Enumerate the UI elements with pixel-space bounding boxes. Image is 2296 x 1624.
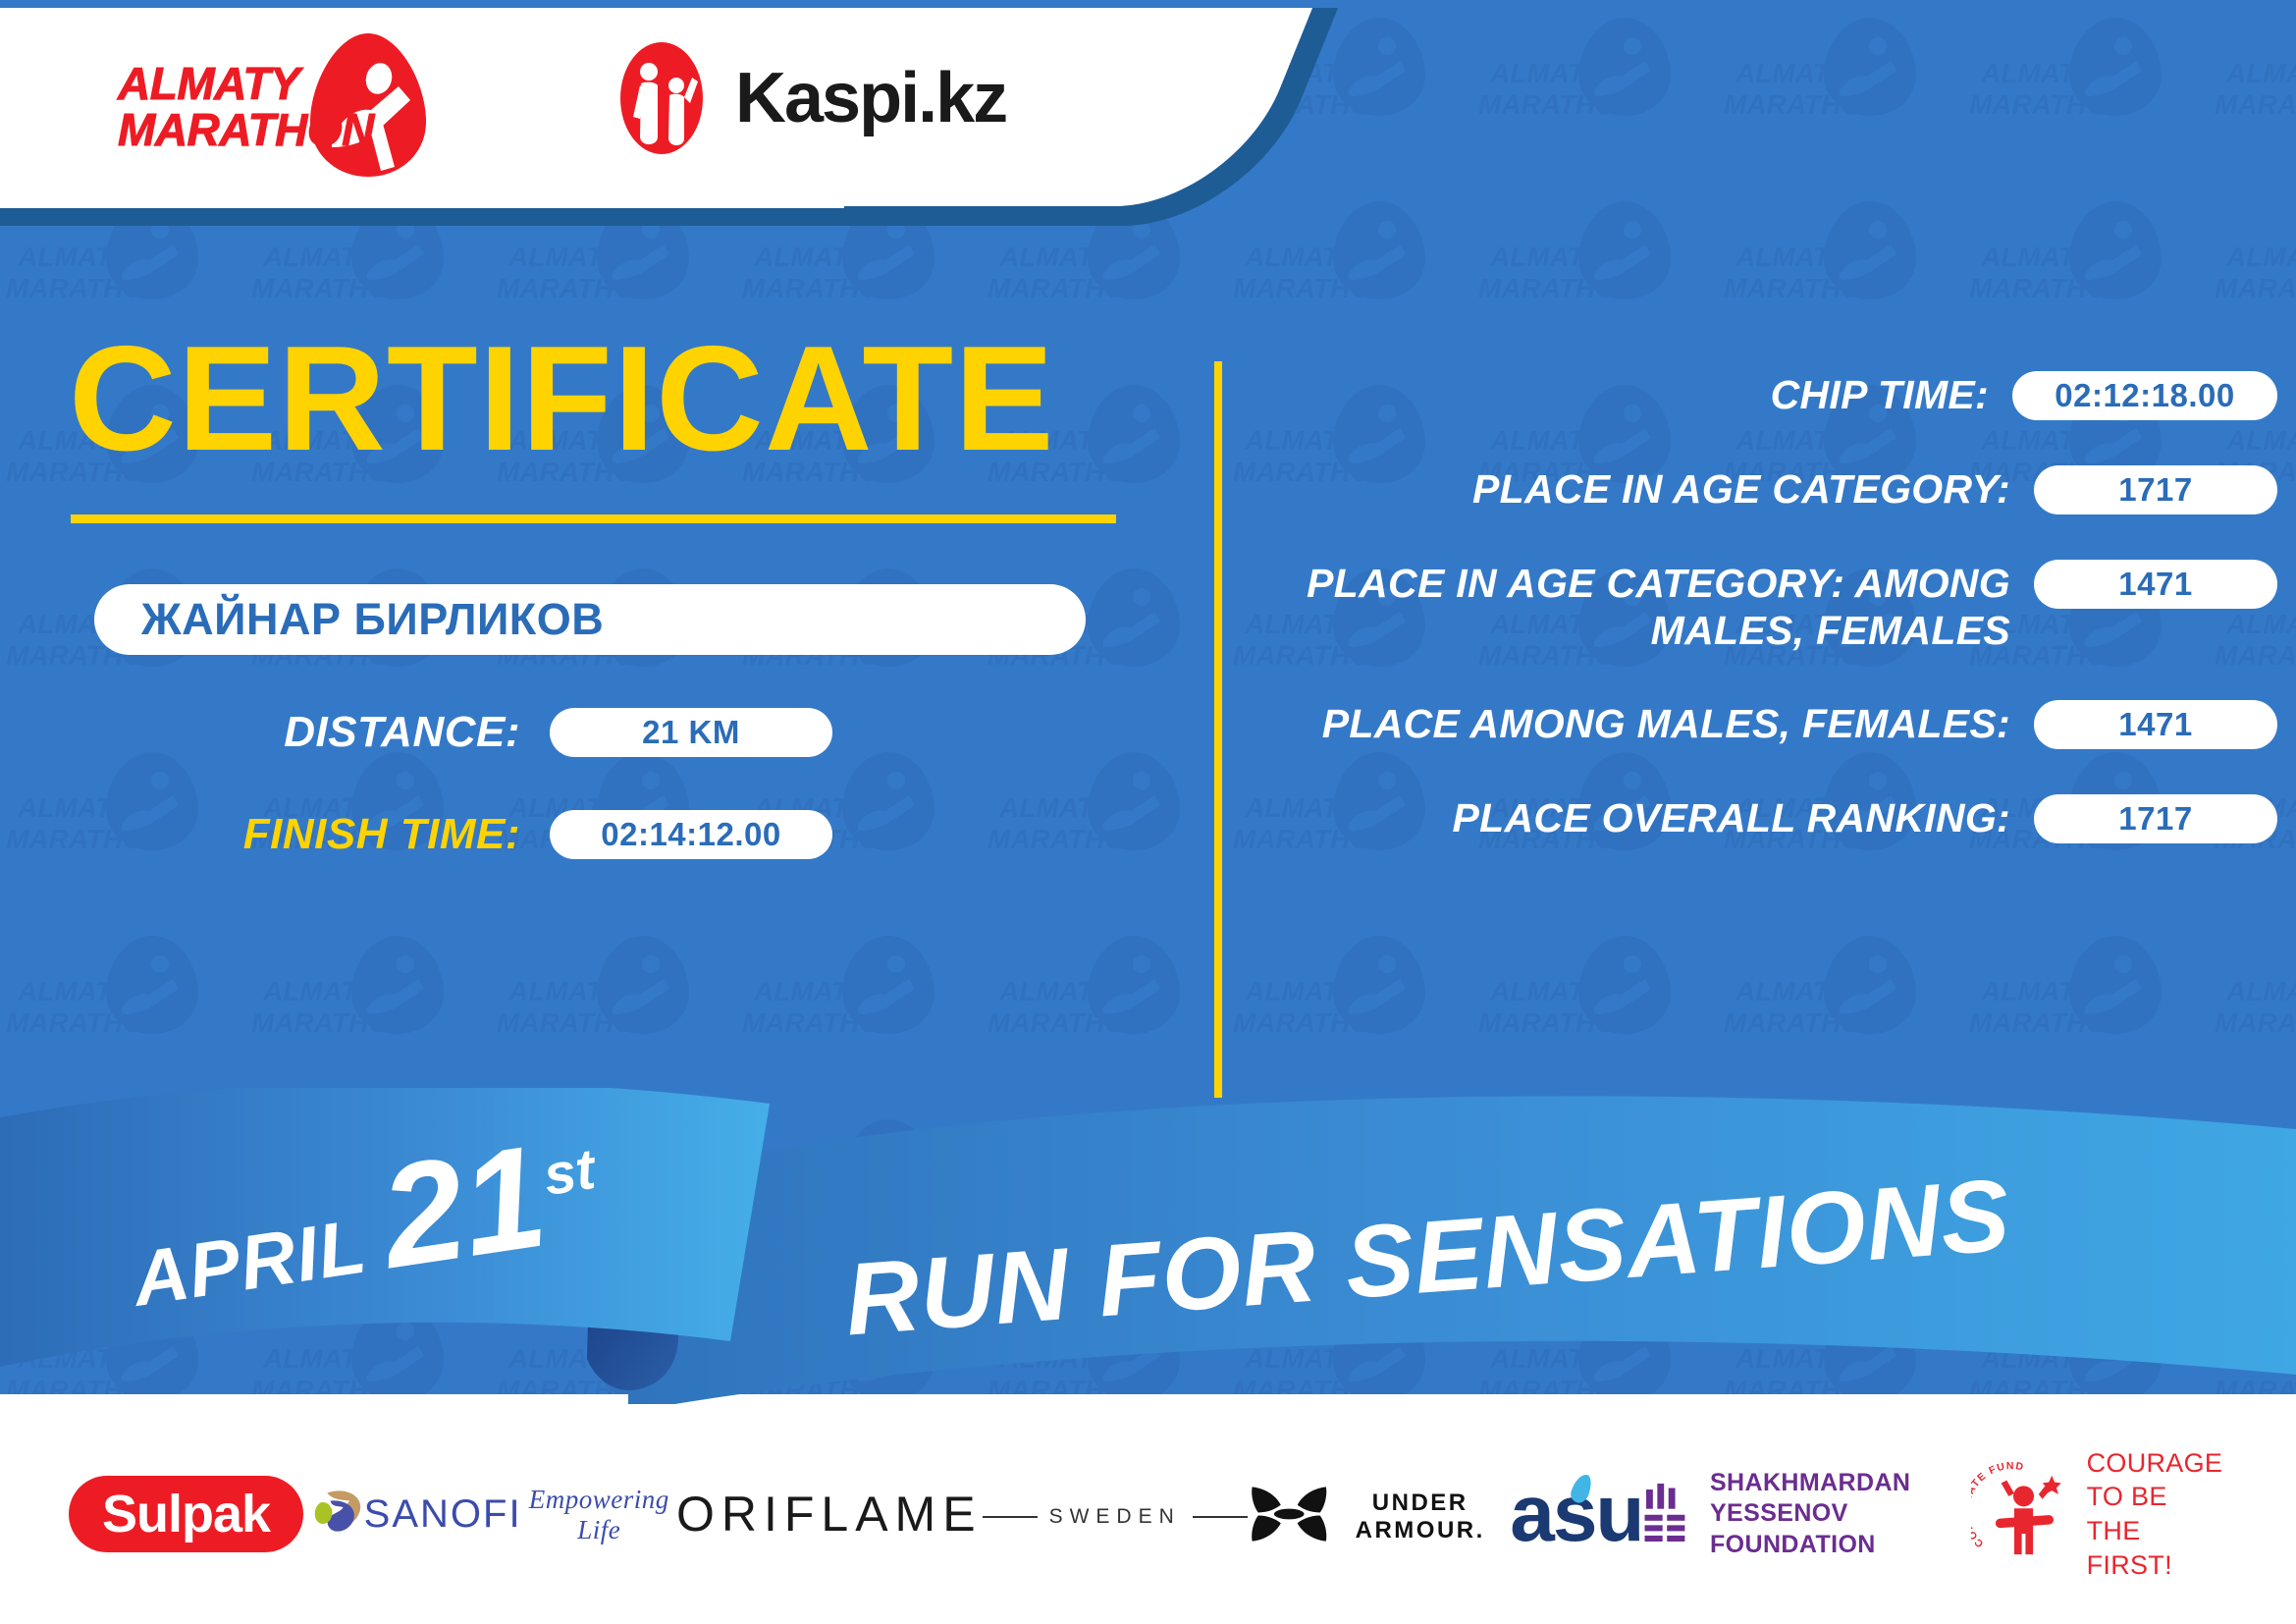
header-logos: ALMATY MARATHON Kaspi.kz: [0, 0, 1099, 196]
yessenov-line2: FOUNDATION: [1710, 1530, 1971, 1560]
sponsor-sulpak: Sulpak: [69, 1476, 303, 1552]
sulpak-wordmark: Sulpak: [69, 1476, 303, 1552]
asu-wordmark: asu: [1510, 1468, 1642, 1560]
yessenov-line1: SHAKHMARDAN YESSENOV: [1710, 1468, 1971, 1530]
place-age-category-label: PLACE IN AGE CATEGORY:: [1266, 465, 2034, 513]
place-among-gender-label: PLACE AMONG MALES, FEMALES:: [1266, 700, 2034, 747]
participant-name-field: ЖАЙНАР БИРЛИКОВ: [94, 584, 1086, 655]
chip-time-value: 02:12:18.00: [2012, 371, 2277, 420]
left-column: CERTIFICATE ЖАЙНАР БИРЛИКОВ DISTANCE: 21…: [0, 324, 1158, 859]
distance-value: 21 KM: [550, 708, 832, 757]
event-day: 21: [374, 1130, 554, 1283]
oriflame-sub: SWEDEN: [983, 1505, 1248, 1529]
place-age-category-gender-value: 1471: [2034, 560, 2277, 609]
place-age-category-gender-label: PLACE IN AGE CATEGORY: AMONG MALES, FEMA…: [1266, 560, 2034, 655]
finish-time-value: 02:14:12.00: [550, 810, 832, 859]
stat-place-age-category-row: PLACE IN AGE CATEGORY: 1717: [1266, 465, 2277, 514]
place-overall-label: PLACE OVERALL RANKING:: [1266, 794, 2034, 841]
participant-name-value: ЖАЙНАР БИРЛИКОВ: [141, 594, 604, 645]
oriflame-wordmark: ORIFLAME: [676, 1486, 983, 1543]
almaty-marathon-logo: ALMATY MARATHON: [118, 29, 442, 167]
under-armour-icon: [1248, 1475, 1330, 1553]
almaty-line2: MARATHON: [118, 107, 374, 153]
yessenov-mark-icon: [1643, 1472, 1690, 1556]
chip-time-label: CHIP TIME:: [1266, 371, 2012, 418]
courage-line2: TO BE: [2087, 1480, 2227, 1514]
sponsor-oriflame: ORIFLAME SWEDEN: [676, 1486, 1248, 1543]
courage-line3: THE FIRST!: [2087, 1514, 2227, 1582]
under-armour-wordmark: UNDER ARMOUR.: [1330, 1489, 1510, 1544]
sponsor-courage-fund: CORPORATE FUND COURAGE TO BE THE FIRST!: [1971, 1446, 2227, 1582]
sponsor-sanofi: SANOFI Empowering Life: [303, 1483, 676, 1545]
courage-wordmark: COURAGE TO BE THE FIRST!: [2087, 1446, 2227, 1582]
place-among-gender-value: 1471: [2034, 700, 2277, 749]
place-age-category-value: 1717: [2034, 465, 2277, 514]
stat-finish-time-row: FINISH TIME: 02:14:12.00: [0, 810, 1158, 859]
courage-fund-icon: CORPORATE FUND: [1971, 1462, 2072, 1566]
certificate-canvas: ALMATY MARATHON ALMATY MARATHON: [0, 0, 2296, 1624]
page-title: CERTIFICATE: [69, 324, 1158, 473]
right-column: CHIP TIME: 02:12:18.00 PLACE IN AGE CATE…: [1266, 371, 2277, 889]
sponsor-yessenov: SHAKHMARDAN YESSENOV FOUNDATION: [1643, 1468, 1972, 1560]
sanofi-mark-icon: [303, 1485, 364, 1540]
yessenov-wordmark: SHAKHMARDAN YESSENOV FOUNDATION: [1710, 1468, 1971, 1560]
title-underline: [71, 514, 1116, 523]
column-divider: [1214, 361, 1222, 1098]
stat-chip-time-row: CHIP TIME: 02:12:18.00: [1266, 371, 2277, 420]
sponsor-under-armour: UNDER ARMOUR.: [1248, 1475, 1510, 1553]
sanofi-tagline: Empowering Life: [522, 1485, 676, 1545]
oriflame-subtitle: SWEDEN: [1049, 1505, 1181, 1529]
stat-place-age-category-gender-row: PLACE IN AGE CATEGORY: AMONG MALES, FEMA…: [1266, 560, 2277, 655]
sanofi-wordmark: SANOFI: [364, 1492, 522, 1537]
kaspi-wordmark: Kaspi.kz: [735, 58, 1006, 138]
event-day-ordinal: st: [540, 1136, 600, 1209]
almaty-line1: ALMATY: [118, 61, 374, 107]
kaspi-person-icon: [614, 40, 710, 156]
distance-label: DISTANCE:: [0, 708, 550, 757]
sponsor-asu: asu: [1510, 1468, 1642, 1560]
stat-distance-row: DISTANCE: 21 KM: [0, 708, 1158, 757]
courage-line1: COURAGE: [2087, 1446, 2227, 1481]
finish-time-label: FINISH TIME:: [0, 810, 550, 859]
place-overall-value: 1717: [2034, 794, 2277, 843]
kaspi-logo: Kaspi.kz: [614, 40, 1006, 156]
stat-place-overall-row: PLACE OVERALL RANKING: 1717: [1266, 794, 2277, 843]
almaty-marathon-wordmark: ALMATY MARATHON: [118, 61, 374, 153]
oriflame-rule-right: [1193, 1516, 1248, 1518]
sponsor-bar: Sulpak SANOFI Empowering Life ORIFLAME S…: [0, 1404, 2296, 1624]
stat-place-among-gender-row: PLACE AMONG MALES, FEMALES: 1471: [1266, 700, 2277, 749]
oriflame-rule-left: [983, 1516, 1038, 1518]
